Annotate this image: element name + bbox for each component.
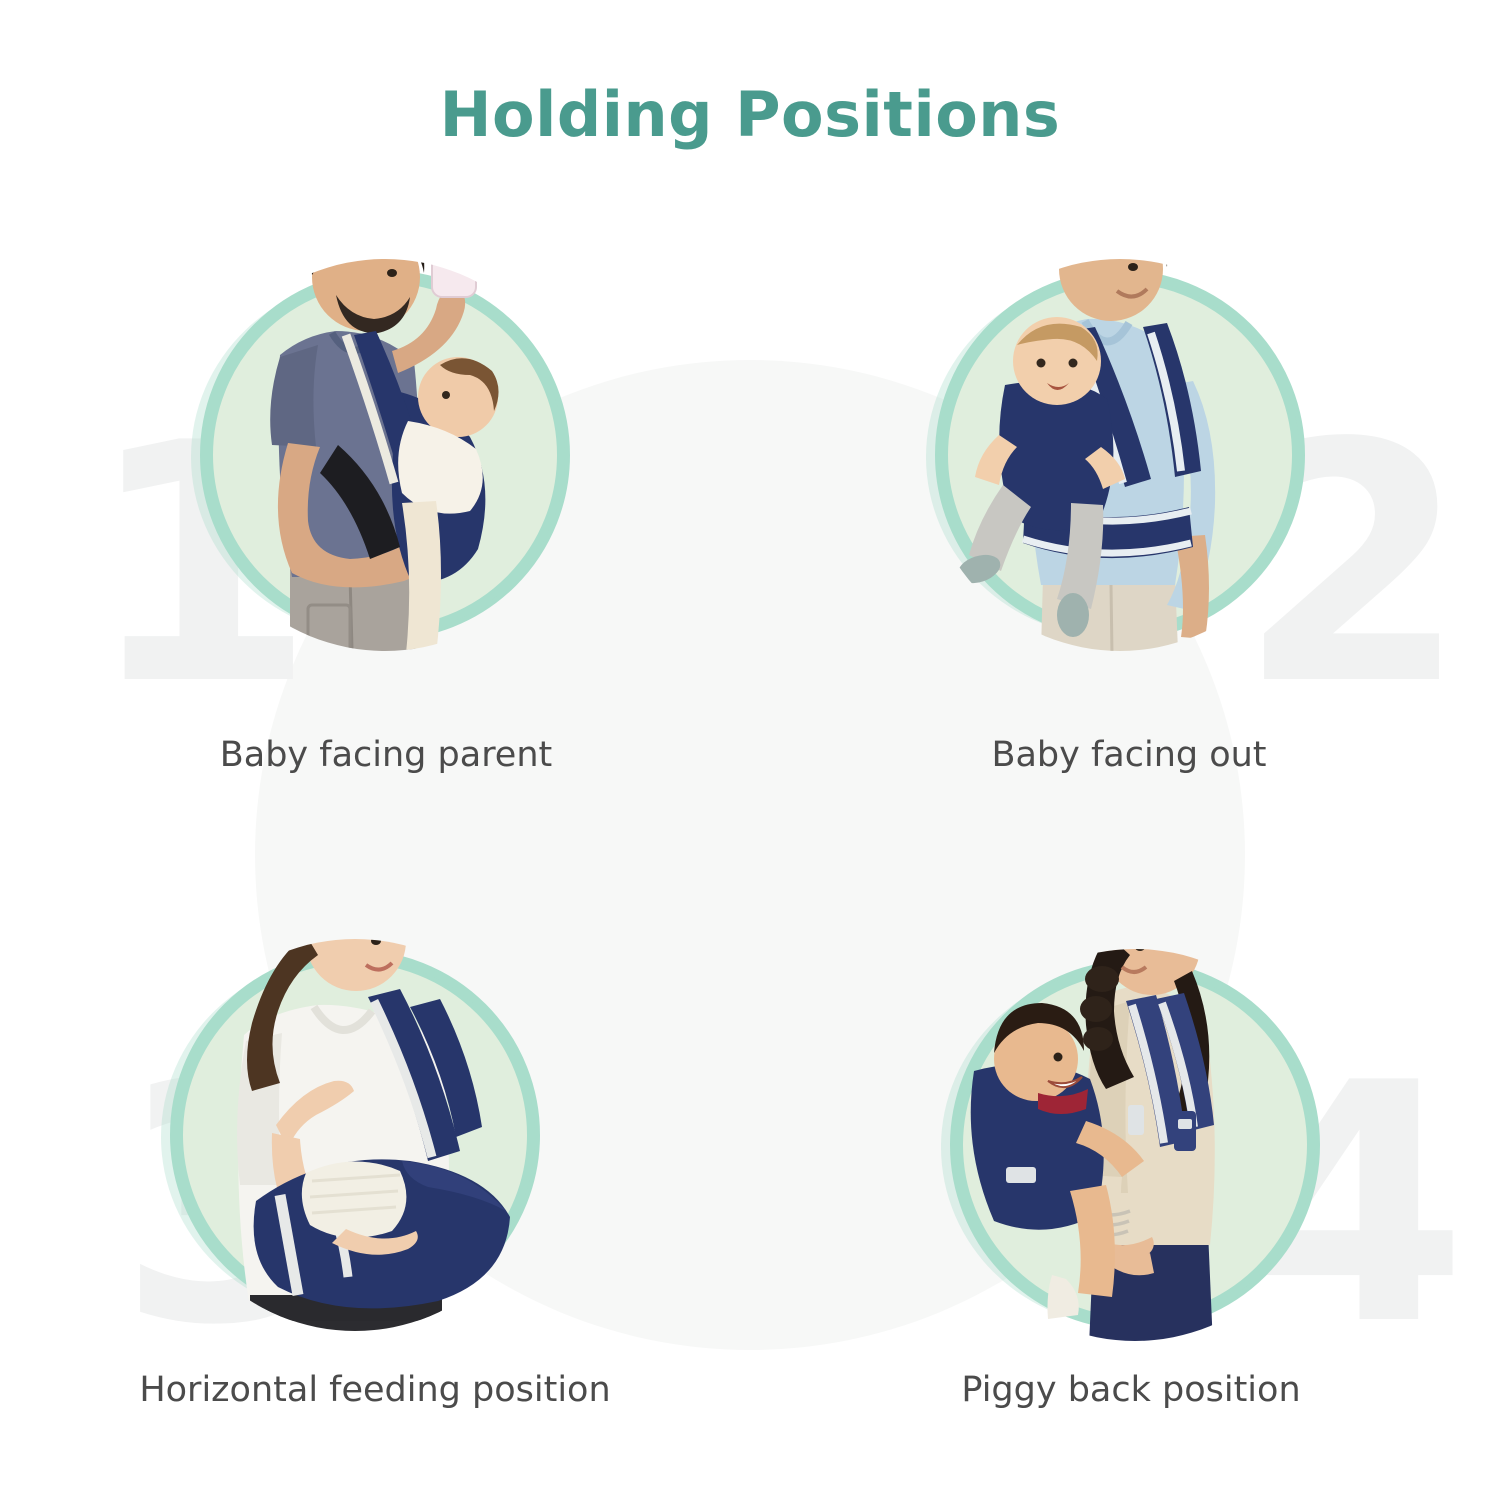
position-4-photo xyxy=(950,960,1320,1330)
position-1-illustration xyxy=(200,270,570,640)
position-2-caption: Baby facing out xyxy=(750,735,1500,775)
positions-grid: Baby facing parent xyxy=(0,190,1500,1440)
position-1-photo xyxy=(200,270,570,640)
position-card-4: Piggy back position xyxy=(750,810,1500,1440)
position-4-illustration xyxy=(950,960,1320,1330)
position-card-3: Horizontal feeding position xyxy=(0,810,750,1440)
page-title-wrap: Holding Positions xyxy=(0,78,1500,151)
position-3-illustration xyxy=(170,950,540,1320)
position-2-photo xyxy=(935,270,1305,640)
page-title: Holding Positions xyxy=(440,78,1061,151)
infographic-page: 1 2 3 4 Holding Positions xyxy=(0,0,1500,1500)
position-card-2: Baby facing out xyxy=(750,190,1500,810)
position-1-caption: Baby facing parent xyxy=(0,735,750,775)
position-card-1: Baby facing parent xyxy=(0,190,750,810)
position-4-caption: Piggy back position xyxy=(750,1370,1500,1410)
position-3-caption: Horizontal feeding position xyxy=(0,1370,750,1410)
position-3-photo xyxy=(170,950,540,1320)
position-2-illustration xyxy=(935,270,1305,640)
